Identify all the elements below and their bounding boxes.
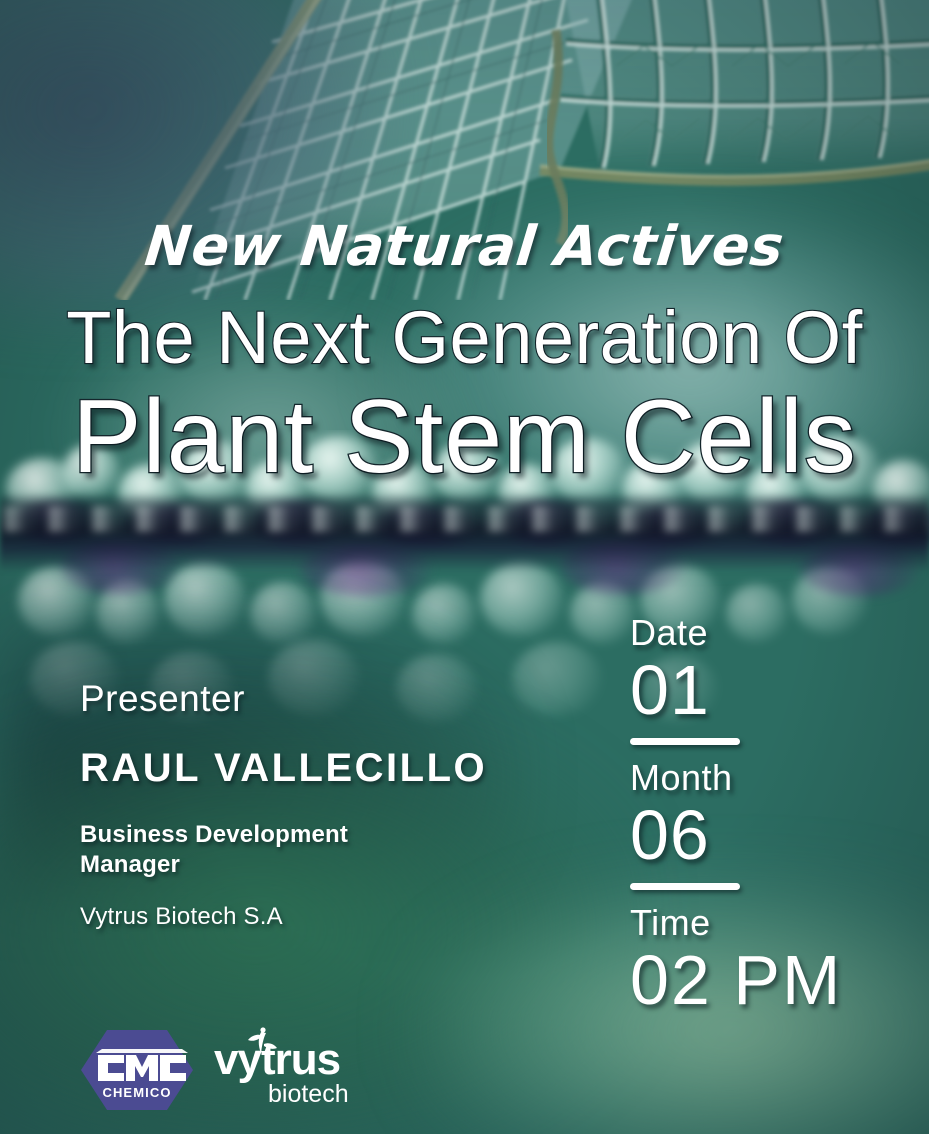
schedule-value-month: 06 <box>630 797 900 873</box>
kicker-text: New Natural Actives <box>0 214 929 278</box>
vytrus-biotech-logo: vytrus biotech <box>214 1026 366 1114</box>
schedule-divider-1 <box>630 738 740 745</box>
schedule-value-time: 02 PM <box>630 942 900 1018</box>
schedule-label-time: Time <box>630 902 900 944</box>
schedule-item-date: Date 01 <box>630 612 900 728</box>
title-line-2: Plant Stem Cells <box>0 378 929 496</box>
schedule-divider-2 <box>630 883 740 890</box>
vytrus-tagline-text: biotech <box>268 1080 349 1108</box>
schedule-value-date: 01 <box>630 652 900 728</box>
schedule-label-date: Date <box>630 612 900 654</box>
schedule-label-month: Month <box>630 757 900 799</box>
cmc-wordmark-text: CHEMICO <box>102 1085 171 1100</box>
schedule-item-month: Month 06 <box>630 757 900 873</box>
title-line-1: The Next Generation Of <box>0 296 929 380</box>
presenter-role: Business Development Manager <box>80 820 380 880</box>
presenter-company: Vytrus Biotech S.A <box>80 902 550 932</box>
presenter-block: Presenter RAUL VALLECILLO Business Devel… <box>80 676 550 932</box>
schedule-item-time: Time 02 PM <box>630 902 900 1018</box>
vytrus-wordmark-text: vytrus <box>214 1035 340 1084</box>
webinar-poster: New Natural Actives The Next Generation … <box>0 0 929 1134</box>
presenter-name: RAUL VALLECILLO <box>80 744 550 792</box>
cmc-chemico-logo: CHEMICO <box>78 1027 196 1113</box>
presenter-label: Presenter <box>80 676 550 722</box>
logo-row: CHEMICO vytrus biotech <box>78 1026 366 1114</box>
schedule-block: Date 01 Month 06 Time 02 PM <box>630 612 900 1018</box>
